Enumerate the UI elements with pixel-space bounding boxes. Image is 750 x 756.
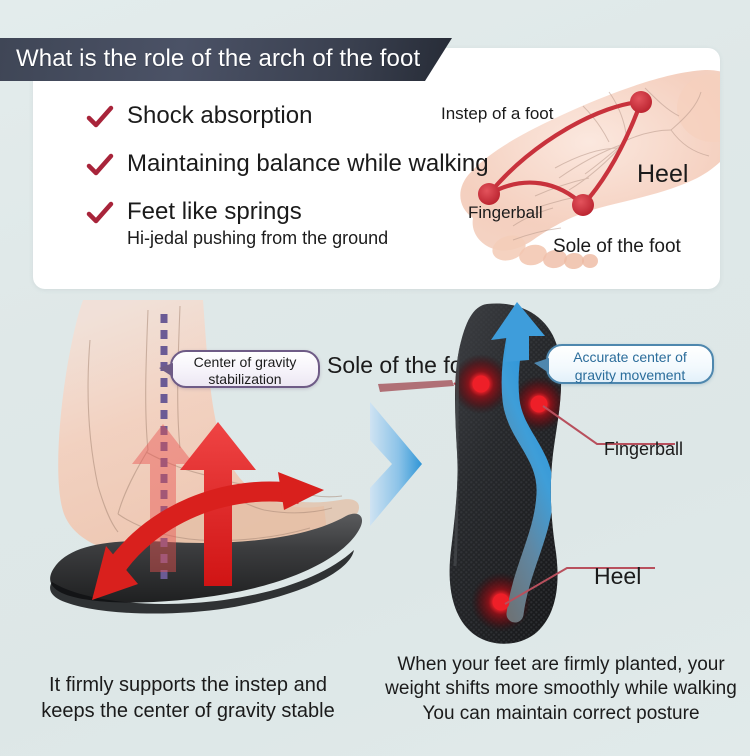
benefit-list: Shock absorption Maintaining balance whi… — [57, 103, 477, 271]
check-icon — [87, 203, 113, 225]
label-fingerball: Fingerball — [468, 203, 543, 223]
list-item-label: Shock absorption — [127, 103, 477, 129]
page-title: What is the role of the arch of the foot — [16, 45, 420, 73]
point-sole — [572, 194, 594, 216]
top-info-card: Instep of a foot Heel Fingerball Sole of… — [33, 48, 720, 289]
caption-right-line-2: weight shifts more smoothly while walkin… — [372, 677, 750, 701]
point-sole-dot — [473, 376, 490, 393]
caption-right: When your feet are firmly planted, your … — [372, 653, 750, 726]
callout-tail-icon — [159, 363, 173, 377]
caption-right-line-3: You can maintain correct posture — [372, 702, 750, 726]
list-item-label: Maintaining balance while walking — [127, 151, 477, 177]
callout-line-2: stabilization — [172, 371, 318, 388]
callout-line-2: gravity movement — [548, 366, 712, 384]
point-fingerball-dot — [531, 396, 548, 413]
check-icon — [87, 107, 113, 129]
label-fingerball-insole: Fingerball — [604, 439, 683, 460]
list-item-label: Feet like springs — [127, 199, 477, 225]
callout-tail-icon — [534, 358, 549, 373]
list-item: Shock absorption — [57, 103, 477, 129]
label-heel-insole: Heel — [594, 563, 641, 590]
point-fingerball — [478, 183, 500, 205]
callout-line-1: Accurate center of — [548, 348, 712, 366]
list-item-sublabel: Hi-jedal pushing from the ground — [127, 228, 477, 249]
page-title-banner: What is the role of the arch of the foot — [0, 38, 452, 81]
list-item: Feet like springs Hi-jedal pushing from … — [57, 199, 477, 249]
label-heel: Heel — [637, 160, 688, 189]
callout-accurate-center-of-gravity: Accurate center of gravity movement — [546, 344, 714, 384]
callout-line-1: Center of gravity — [172, 354, 318, 371]
label-sole-of-the-foot: Sole of the foot — [553, 236, 681, 258]
infographic-canvas: Instep of a foot Heel Fingerball Sole of… — [0, 0, 750, 756]
point-heel — [630, 91, 652, 113]
check-icon — [87, 155, 113, 177]
caption-right-line-1: When your feet are firmly planted, your — [372, 653, 750, 677]
callout-center-of-gravity: Center of gravity stabilization — [170, 350, 320, 388]
caption-left-line-1: It firmly supports the instep and — [8, 673, 368, 699]
caption-left-line-2: keeps the center of gravity stable — [8, 699, 368, 725]
caption-left: It firmly supports the instep and keeps … — [8, 673, 368, 724]
list-item: Maintaining balance while walking — [57, 151, 477, 177]
